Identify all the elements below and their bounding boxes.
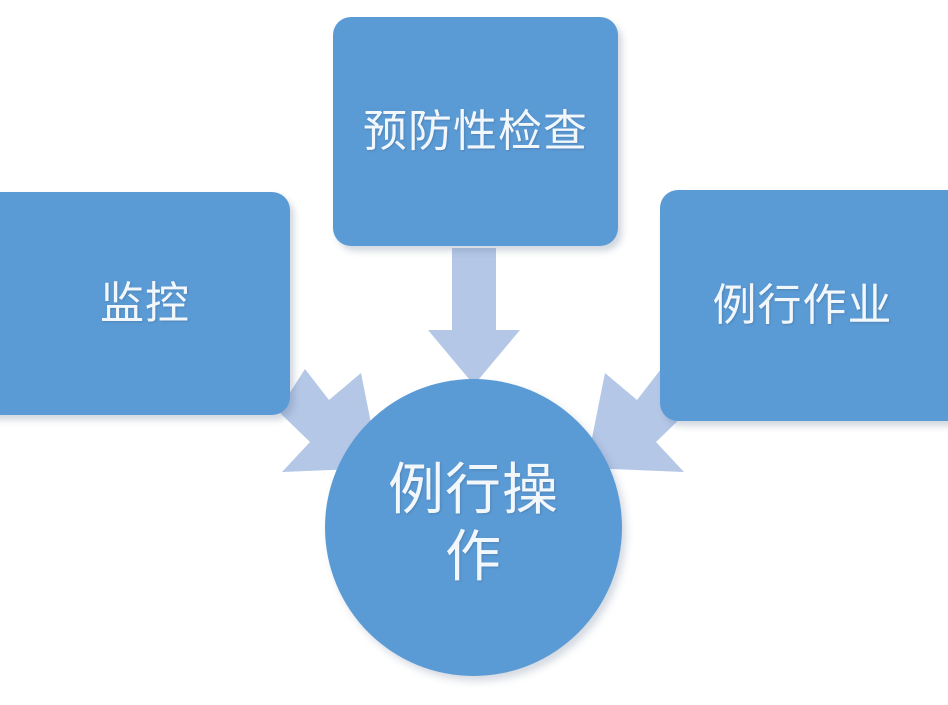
node-routine-work[interactable]: 例行作业	[660, 190, 948, 421]
node-preventive-inspection[interactable]: 预防性检查	[333, 17, 618, 246]
node-monitoring[interactable]: 监控	[0, 192, 290, 415]
node-routine-work-label: 例行作业	[713, 280, 918, 332]
node-preventive-inspection-label: 预防性检查	[363, 106, 588, 158]
arrow-preventive-inspection-to-center	[424, 248, 524, 388]
node-routine-operation-label: 例行操 作	[379, 458, 569, 590]
node-routine-operation[interactable]: 例行操 作	[325, 379, 622, 676]
node-monitoring-label: 监控	[78, 278, 190, 330]
diagram-canvas: 预防性检查 监控 例行作业 例行操 作	[0, 0, 948, 705]
